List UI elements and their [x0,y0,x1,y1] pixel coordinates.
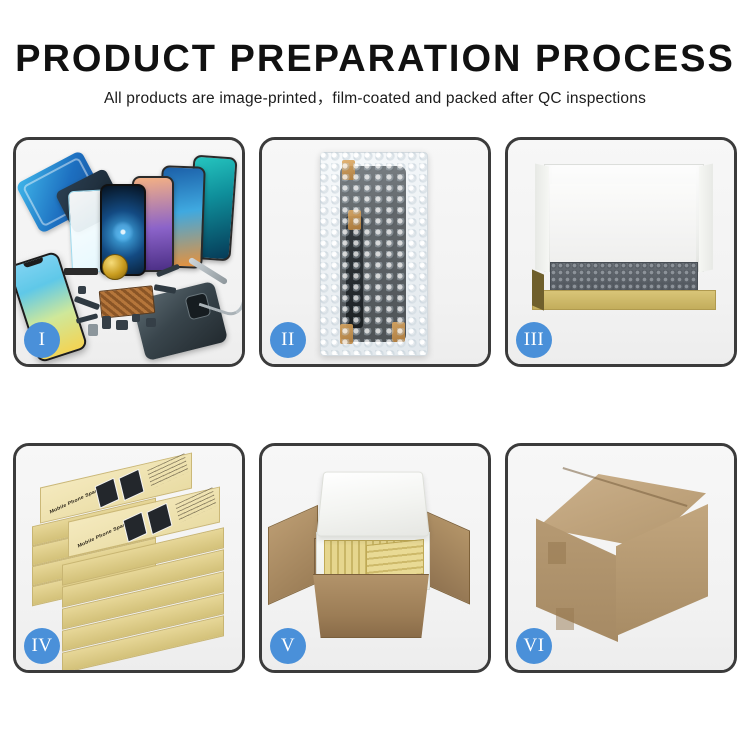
tape-tab-icon [340,324,353,344]
step-badge-1: I [24,322,60,358]
sim-tray-icon [88,324,98,336]
step-panel-5[interactable]: V [259,443,491,673]
box-side-edge [532,269,544,310]
step-panel-6[interactable]: VI [505,443,737,673]
small-component-icon [146,318,156,327]
step-panel-4[interactable]: Mobile Phone Spare Parts Mobile Phone Sp… [13,443,245,673]
carton-tape-patch [556,608,574,630]
small-component-icon [78,286,86,294]
page-subtitle: All products are image-printed，film-coat… [0,89,750,109]
tape-tab-icon [392,322,405,342]
step-badge-5: V [270,628,306,664]
circuit-board-part-icon [99,285,156,318]
foam-inner-wall [550,184,696,262]
flex-cable-part-icon [76,313,99,324]
box-spec-lines [175,487,217,523]
tape-tab-icon [348,210,361,230]
flex-cable-strip [346,216,363,328]
step-badge-2: II [270,322,306,358]
carton-tape-patch [548,542,566,564]
step-badge-3: III [516,322,552,358]
header: PRODUCT PREPARATION PROCESS All products… [0,36,750,109]
tape-tab-icon [342,160,355,180]
small-component-icon [116,320,128,330]
screen-print-icon [118,469,144,502]
box-front-edge [532,290,716,310]
step-badge-6: VI [516,628,552,664]
box-stack: Mobile Phone Spare Parts Mobile Phone Sp… [32,468,228,652]
screen-print-icon [123,512,148,543]
small-component-icon [132,314,140,322]
small-component-icon [102,316,111,329]
phone-lineup [94,154,244,264]
step-panel-2[interactable]: II [259,137,491,367]
speaker-coil-part-icon [102,254,128,280]
battery-connector-part-icon [64,268,98,275]
step-panel-1[interactable]: I [13,137,245,367]
carton-flap-left [268,505,318,605]
flex-cable-part-icon [74,296,100,311]
screen-print-icon [95,478,120,509]
step-badge-4: IV [24,628,60,664]
page-title: PRODUCT PREPARATION PROCESS [0,36,750,82]
product-preparation-infographic: PRODUCT PREPARATION PROCESS All products… [0,0,750,750]
box-spec-lines [147,453,189,489]
carton-front-wall [308,574,434,638]
process-step-grid: I II [13,137,737,673]
step-panel-3[interactable]: III [505,137,737,367]
foam-cooler-lid [316,472,429,537]
screen-print-icon [146,503,172,536]
